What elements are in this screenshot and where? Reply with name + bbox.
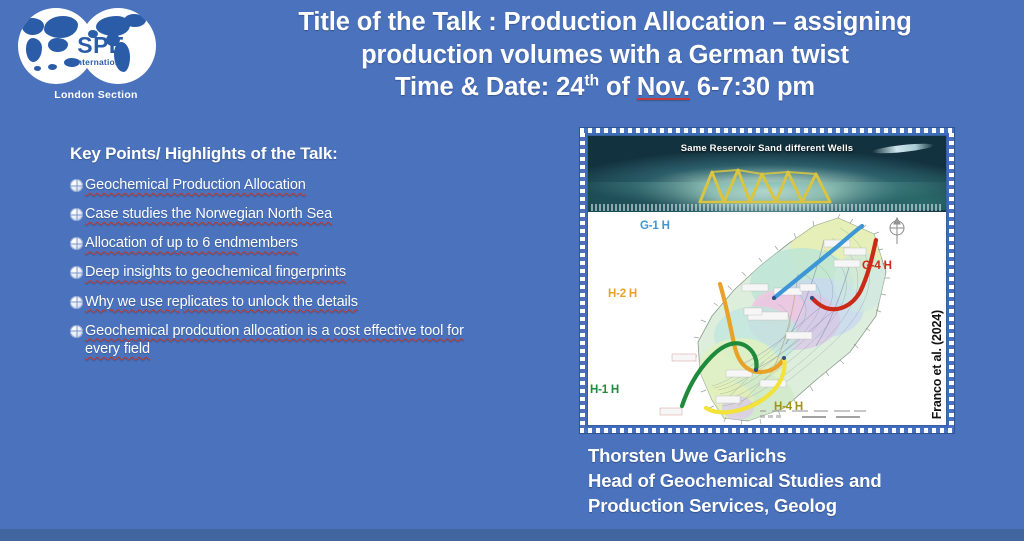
globe-icon [70,179,83,192]
key-point-text: Allocation of up to 6 endmembers [85,234,298,252]
presenter-block: Thorsten Uwe Garlichs Head of Geochemica… [588,444,988,518]
well-path-wireframe-icon [692,162,842,206]
figure-panel: Same Reservoir Sand different Wells [580,128,954,433]
north-arrow-icon [884,216,910,246]
title-line-1: Title of the Talk : Production Allocatio… [205,6,1005,39]
well-label-g1h: G-1 H [640,220,670,232]
map-scale-bar [758,410,868,422]
key-point-text: Why we use replicates to unlock the deta… [85,293,358,311]
title-line-2: production volumes with a German twist [205,39,1005,72]
well-label-g4h: G-4 H [862,260,892,272]
key-point-text: Geochemical prodcution allocation is a c… [85,322,500,358]
list-item: Why we use replicates to unlock the deta… [70,293,500,311]
presenter-role-line-1: Head of Geochemical Studies and [588,469,988,494]
spe-wordmark: SPE International [56,34,146,67]
spe-globes-mark: ® SPE International [16,8,176,84]
date-ordinal-suffix: th [584,73,599,90]
globe-icon [70,208,83,221]
list-item: Geochemical Production Allocation [70,176,500,194]
seabed-banner-image: Same Reservoir Sand different Wells [588,136,946,212]
presenter-name: Thorsten Uwe Garlichs [588,444,988,469]
globe-icon [70,296,83,309]
presenter-role-line-2: Production Services, Geolog [588,494,988,519]
bottom-accent-strip [0,529,1024,541]
key-points-section: Key Points/ Highlights of the Talk: Geoc… [70,144,500,369]
slide-title: Title of the Talk : Production Allocatio… [205,6,1005,104]
key-points-heading: Key Points/ Highlights of the Talk: [70,144,500,164]
well-label-h2h: H-2 H [608,288,637,300]
figure-inner: Same Reservoir Sand different Wells [587,135,947,426]
key-point-text: Case studies the Norwegian North Sea [85,205,332,223]
globe-icon [70,237,83,250]
spe-subword: International [56,57,146,67]
logo-section-label: London Section [12,89,180,101]
globe-icon [70,325,83,338]
time-date-mid: of [599,73,637,101]
registered-mark: ® [153,73,156,80]
key-point-text: Geochemical Production Allocation [85,176,306,194]
well-label-h1h: H-1 H [590,384,619,396]
spe-word: SPE [56,34,146,57]
key-point-text: Deep insights to geochemical fingerprint… [85,263,346,281]
list-item: Deep insights to geochemical fingerprint… [70,263,500,281]
list-item: Allocation of up to 6 endmembers [70,234,500,252]
time-date-prefix: Time & Date: 24 [395,73,584,101]
slide-canvas: ® SPE International London Section Title… [0,0,1024,541]
figure-credit: Franco et al. (2024) [930,310,944,419]
banner-title: Same Reservoir Sand different Wells [588,143,946,154]
month-abbrev: Nov. [637,73,690,101]
list-item: Geochemical prodcution allocation is a c… [70,322,500,358]
time-date-suffix: 6-7:30 pm [690,73,815,101]
field-map-image: G-1 H G-4 H H-2 H H-1 H H-4 H [588,212,946,425]
globe-icon [70,266,83,279]
title-line-3: Time & Date: 24th of Nov. 6-7:30 pm [205,71,1005,104]
spe-london-section-logo: ® SPE International London Section [12,8,180,108]
list-item: Case studies the Norwegian North Sea [70,205,500,223]
